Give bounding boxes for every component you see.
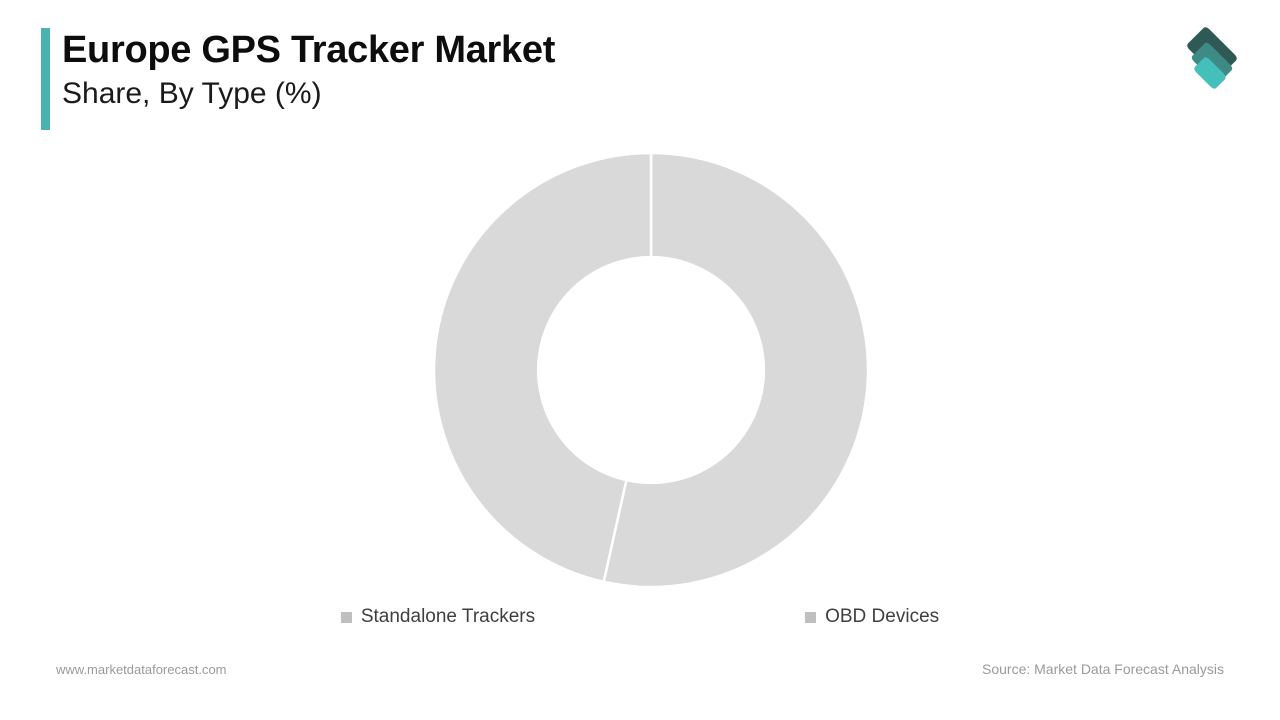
chart-legend: Standalone Trackers OBD Devices [0, 606, 1280, 628]
title-accent-bar [41, 28, 50, 130]
stacked-diamonds-icon [1176, 22, 1248, 94]
legend-swatch-icon [341, 612, 352, 623]
donut-slice[interactable] [434, 153, 651, 582]
donut-chart [424, 143, 878, 597]
page-title: Europe GPS Tracker Market [62, 28, 555, 73]
legend-item-obd-devices[interactable]: OBD Devices [805, 606, 939, 628]
header: Europe GPS Tracker Market Share, By Type… [41, 28, 555, 130]
brand-logo [1176, 22, 1248, 94]
legend-item-standalone-trackers[interactable]: Standalone Trackers [341, 606, 535, 628]
legend-label: OBD Devices [825, 606, 939, 628]
footer-website[interactable]: www.marketdataforecast.com [56, 662, 227, 677]
title-block: Europe GPS Tracker Market Share, By Type… [50, 28, 555, 130]
legend-swatch-icon [805, 612, 816, 623]
donut-slice[interactable] [604, 153, 868, 587]
footer-source: Source: Market Data Forecast Analysis [982, 661, 1224, 677]
legend-label: Standalone Trackers [361, 606, 535, 628]
page-subtitle: Share, By Type (%) [62, 75, 555, 113]
donut-slice-group [434, 153, 868, 587]
